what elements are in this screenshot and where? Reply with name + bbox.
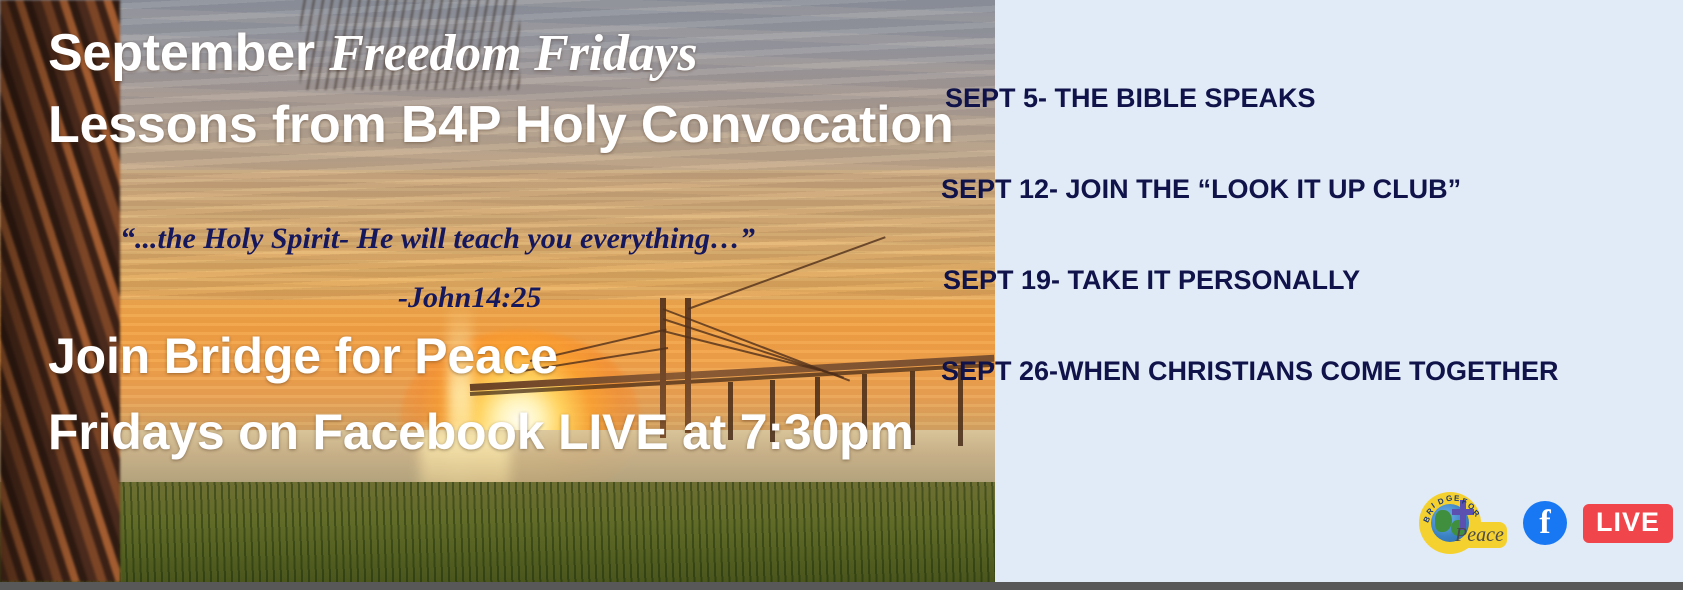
facebook-icon[interactable]: f <box>1523 501 1567 545</box>
headline-line-1: September Freedom Fridays <box>48 22 697 85</box>
branding-logos: B R I D G E F O R Peace f LIVE <box>1419 492 1673 554</box>
bottom-strip <box>0 582 1683 590</box>
facebook-glyph: f <box>1523 501 1567 545</box>
scripture-quote: “...the Holy Spirit- He will teach you e… <box>120 222 755 256</box>
headline-line-3: Join Bridge for Peace <box>48 326 558 386</box>
live-badge: LIVE <box>1583 504 1673 543</box>
headline-series-name: Freedom Fridays <box>329 25 697 82</box>
headline-month: September <box>48 24 329 82</box>
schedule-item: SEPT 5- THE BIBLE SPEAKS <box>945 83 1316 114</box>
schedule-item: SEPT 12- JOIN THE “LOOK IT UP CLUB” <box>941 174 1461 205</box>
sunset-bridge-photo: September Freedom Fridays Lessons from B… <box>0 0 995 582</box>
headline-line-4: Fridays on Facebook LIVE at 7:30pm <box>48 402 914 462</box>
photo-text-overlay: September Freedom Fridays Lessons from B… <box>0 0 995 582</box>
schedule-item: SEPT 19- TAKE IT PERSONALLY <box>943 265 1360 296</box>
bridge-for-peace-logo-icon: B R I D G E F O R Peace <box>1419 492 1507 554</box>
scripture-reference: -John14:25 <box>398 281 541 315</box>
schedule-item: SEPT 26-WHEN CHRISTIANS COME TOGETHER <box>941 356 1559 387</box>
schedule-panel: SEPT 5- THE BIBLE SPEAKS SEPT 12- JOIN T… <box>995 0 1683 582</box>
headline-line-2: Lessons from B4P Holy Convocation <box>48 94 954 156</box>
logo-script-text: Peace <box>1455 522 1509 548</box>
freedom-fridays-flyer: September Freedom Fridays Lessons from B… <box>0 0 1683 590</box>
